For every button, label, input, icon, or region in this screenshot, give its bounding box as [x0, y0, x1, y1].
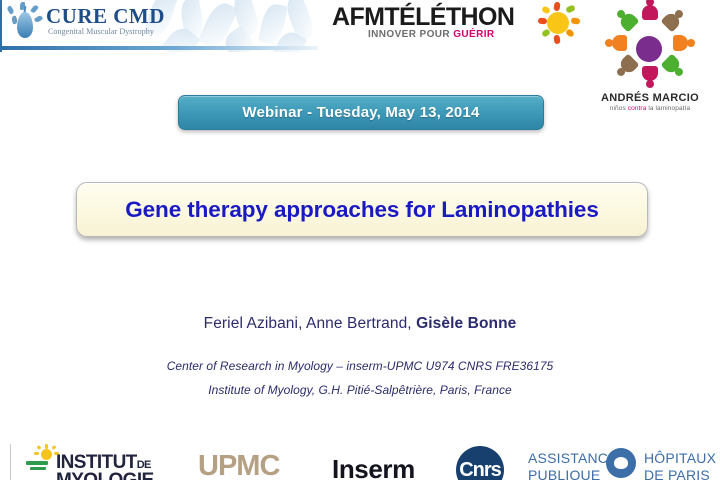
webinar-date-banner: Webinar - Tuesday, May 13, 2014: [178, 95, 544, 130]
afm-tagline-prefix: INNOVER POUR: [368, 29, 453, 40]
cnrs-logo: Cnrs: [456, 446, 504, 480]
andres-tagline-highlight: contra: [628, 105, 647, 112]
aphp-word-2: PUBLIQUE: [528, 467, 600, 480]
cure-cmd-name: CURE CMD: [46, 4, 165, 29]
afm-name: AFMTÉLÉTHON: [332, 3, 514, 32]
andres-marcio-tagline: niños contra la laminopatía: [580, 105, 720, 112]
footer-logo-strip: INSTITUTDE MYOLOGIE UPMC Inserm Cnrs ASS…: [0, 444, 720, 480]
cure-cmd-subtitle: Congenital Muscular Dystrophy: [48, 27, 154, 36]
droplet-dandelion-icon: [6, 2, 42, 48]
authors-plain: Feriel Azibani, Anne Bertrand,: [204, 315, 416, 332]
webinar-date-label: Webinar - Tuesday, May 13, 2014: [242, 104, 479, 121]
aphp-word-4: DE PARIS: [644, 467, 710, 480]
affiliation-line-2: Institute of Myology, G.H. Pitié-Salpêtr…: [0, 383, 720, 397]
aphp-logo: ASSISTANCE PUBLIQUE HÔPITAUX DE PARIS: [528, 448, 718, 480]
aphp-emblem-icon: [606, 448, 636, 478]
grass-bar-2: [30, 467, 46, 470]
inserm-logo: Inserm: [332, 454, 415, 480]
andres-marcio-name: ANDRÉS MARCIO: [580, 92, 720, 104]
institut-de-myologie-logo: INSTITUTDE MYOLOGIE: [24, 444, 189, 480]
aphp-word-1: ASSISTANCE: [528, 450, 618, 466]
afm-tagline: INNOVER POUR GUÉRIR: [368, 29, 495, 40]
afm-tagline-highlight: GUÉRIR: [453, 29, 494, 40]
authors-bold: Gisèle Bonne: [416, 315, 516, 332]
footer-divider: [10, 444, 11, 480]
andres-center-dot: [636, 36, 662, 62]
header-left-edge: [0, 0, 2, 52]
andres-tagline-suffix: la laminopatía: [646, 105, 690, 112]
page-title: Gene therapy approaches for Laminopathie…: [125, 197, 599, 223]
grass-bar-1: [26, 461, 48, 465]
afm-telethon-logo: AFMTÉLÉTHON INNOVER POUR GUÉRIR: [332, 2, 572, 48]
presentation-title-box: Gene therapy approaches for Laminopathie…: [76, 182, 648, 237]
institut-line-2: MYOLOGIE: [56, 470, 154, 480]
andres-marcio-logo: ANDRÉS MARCIO niños contra la laminopatí…: [580, 0, 720, 118]
andres-tagline-prefix: niños: [610, 105, 628, 112]
aphp-word-3: HÔPITAUX: [644, 450, 716, 466]
affiliation-line-1: Center of Research in Myology – inserm-U…: [0, 359, 720, 373]
upmc-logo: UPMC: [198, 450, 318, 480]
author-list: Feriel Azibani, Anne Bertrand, Gisèle Bo…: [0, 315, 720, 333]
cure-cmd-logo: CURE CMD Congenital Muscular Dystrophy: [6, 2, 156, 48]
sun-burst-icon: [538, 2, 580, 46]
